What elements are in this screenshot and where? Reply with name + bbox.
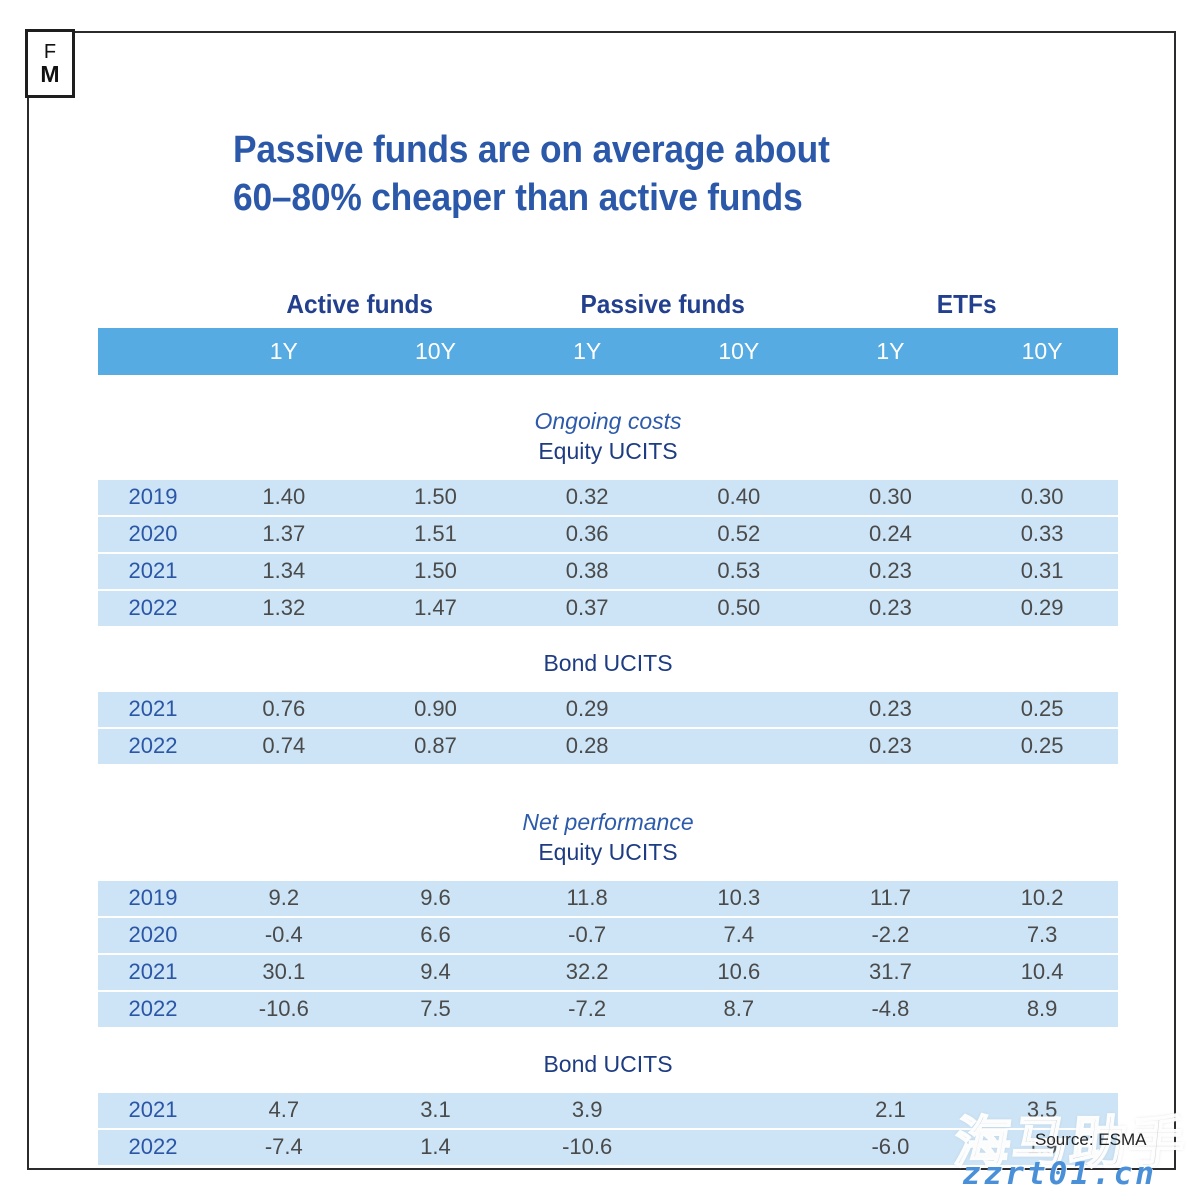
table-row: 2020-0.46.6-0.77.4-2.27.3 <box>98 918 1118 955</box>
logo-letter-m: M <box>40 63 59 86</box>
cell-value: -6.0 <box>815 1130 967 1163</box>
fm-logo: F M <box>25 29 75 98</box>
cell-value: -10.6 <box>208 992 360 1025</box>
table-row: 20210.760.900.290.230.25 <box>98 692 1118 729</box>
cell-value <box>663 1093 815 1126</box>
cell-value <box>663 692 815 725</box>
sub-header-passive-1y: 1Y <box>511 328 663 375</box>
cell-year: 2021 <box>98 554 208 587</box>
cell-year: 2021 <box>98 955 208 988</box>
section-caption: Ongoing costsEquity UCITS <box>98 407 1118 466</box>
table-row: 20221.321.470.370.500.230.29 <box>98 591 1118 626</box>
section-rows: 20199.29.611.810.311.710.22020-0.46.6-0.… <box>98 881 1118 1027</box>
caption-spacer <box>98 678 1118 692</box>
table-group-header-row: Active funds Passive funds ETFs <box>98 281 1118 328</box>
title-line-1: Passive funds are on average about <box>233 126 1089 174</box>
cell-year: 2020 <box>98 517 208 550</box>
cell-value: 0.31 <box>966 554 1118 587</box>
section-caption: Bond UCITS <box>98 648 1118 678</box>
cell-value: 0.25 <box>966 692 1118 725</box>
section-spacer <box>98 626 1118 648</box>
sub-header-passive-10y: 10Y <box>663 328 815 375</box>
caption-spacer <box>98 867 1118 881</box>
cell-value: 1.34 <box>208 554 360 587</box>
cell-value: 1.4 <box>360 1130 512 1163</box>
cell-value: 31.7 <box>815 955 967 988</box>
cell-value: -0.4 <box>208 918 360 951</box>
cell-value: 32.2 <box>511 955 663 988</box>
cell-value: 0.30 <box>966 480 1118 513</box>
cell-value: 8.7 <box>663 992 815 1025</box>
cell-year: 2019 <box>98 480 208 513</box>
table-row: 202130.19.432.210.631.710.4 <box>98 955 1118 992</box>
cell-value: 11.8 <box>511 881 663 914</box>
cell-value: 10.3 <box>663 881 815 914</box>
table-sections: Ongoing costsEquity UCITS20191.401.500.3… <box>98 375 1118 1165</box>
cell-value: -10.6 <box>511 1130 663 1163</box>
cell-value: 0.29 <box>511 692 663 725</box>
cell-value: -2.2 <box>815 918 967 951</box>
cell-value: 0.23 <box>815 729 967 762</box>
logo-letter-f: F <box>44 42 56 62</box>
cell-value: 0.23 <box>815 554 967 587</box>
cell-value: 0.52 <box>663 517 815 550</box>
group-header-etfs: ETFs <box>824 281 1109 328</box>
cell-value: 0.30 <box>815 480 967 513</box>
group-header-passive-funds: Passive funds <box>520 281 805 328</box>
cell-value: 1.40 <box>208 480 360 513</box>
content-area: Passive funds are on average about 60–80… <box>0 0 1200 1200</box>
cell-year: 2021 <box>98 692 208 725</box>
cell-year: 2022 <box>98 591 208 624</box>
cell-value: 0.36 <box>511 517 663 550</box>
cell-value: 0.37 <box>511 591 663 624</box>
sub-header-etf-1y: 1Y <box>815 328 967 375</box>
page-title: Passive funds are on average about 60–80… <box>233 126 1089 222</box>
cell-value: 6.6 <box>360 918 512 951</box>
table-row: 20220.740.870.280.230.25 <box>98 729 1118 764</box>
cell-value: 1.32 <box>208 591 360 624</box>
cell-value: 0.23 <box>815 692 967 725</box>
table-row: 20191.401.500.320.400.300.30 <box>98 480 1118 517</box>
cell-value: 0.87 <box>360 729 512 762</box>
cell-year: 2022 <box>98 729 208 762</box>
cell-value: 7.5 <box>360 992 512 1025</box>
cell-value: 10.4 <box>966 955 1118 988</box>
cell-value: 0.74 <box>208 729 360 762</box>
cell-value: 0.50 <box>663 591 815 624</box>
title-line-2: 60–80% cheaper than active funds <box>233 174 1089 222</box>
cell-value: 0.28 <box>511 729 663 762</box>
cell-value: 1.51 <box>360 517 512 550</box>
section-spacer <box>98 375 1118 407</box>
section-rows: 20210.760.900.290.230.2520220.740.870.28… <box>98 692 1118 764</box>
cell-value: 0.25 <box>966 729 1118 762</box>
cell-year: 2022 <box>98 1130 208 1163</box>
cell-year: 2020 <box>98 918 208 951</box>
sub-header-year-col <box>98 328 208 375</box>
cell-value: 30.1 <box>208 955 360 988</box>
cell-value: 10.2 <box>966 881 1118 914</box>
section-caption-asset: Bond UCITS <box>98 648 1118 678</box>
cell-value: 1.50 <box>360 480 512 513</box>
section-caption-metric: Ongoing costs <box>98 407 1118 436</box>
cell-value: 3.9 <box>511 1093 663 1126</box>
cell-value: 0.40 <box>663 480 815 513</box>
section-caption-asset: Equity UCITS <box>98 837 1118 867</box>
sub-header-active-10y: 10Y <box>360 328 512 375</box>
cell-value: 0.76 <box>208 692 360 725</box>
cell-value: 0.23 <box>815 591 967 624</box>
cell-value: -4.8 <box>815 992 967 1025</box>
cell-value: 0.53 <box>663 554 815 587</box>
source-note: Source: ESMA <box>1035 1130 1147 1150</box>
section-caption: Net performanceEquity UCITS <box>98 808 1118 867</box>
cell-value: 0.29 <box>966 591 1118 624</box>
cell-year: 2021 <box>98 1093 208 1126</box>
sub-header-etf-10y: 10Y <box>966 328 1118 375</box>
section-caption-metric: Net performance <box>98 808 1118 837</box>
section-caption-asset: Equity UCITS <box>98 436 1118 466</box>
cell-value: 3.1 <box>360 1093 512 1126</box>
cell-value: 4.7 <box>208 1093 360 1126</box>
section-caption: Bond UCITS <box>98 1049 1118 1079</box>
cell-value: 11.7 <box>815 881 967 914</box>
caption-spacer <box>98 466 1118 480</box>
cell-value: 0.32 <box>511 480 663 513</box>
group-header-active-funds: Active funds <box>217 281 502 328</box>
cell-value: 7.3 <box>966 918 1118 951</box>
section-rows: 20191.401.500.320.400.300.3020201.371.51… <box>98 480 1118 626</box>
cell-value: 7.4 <box>663 918 815 951</box>
group-header-spacer <box>101 281 204 328</box>
cell-value: -7.4 <box>208 1130 360 1163</box>
cell-value: 0.24 <box>815 517 967 550</box>
watermark-site: zzrt01.cn <box>962 1156 1157 1192</box>
table-row: 2022-10.67.5-7.28.7-4.88.9 <box>98 992 1118 1027</box>
cell-year: 2022 <box>98 992 208 1025</box>
section-caption-asset: Bond UCITS <box>98 1049 1118 1079</box>
cell-value: 1.37 <box>208 517 360 550</box>
cell-value: 8.9 <box>966 992 1118 1025</box>
sub-header-active-1y: 1Y <box>208 328 360 375</box>
cell-value: -0.7 <box>511 918 663 951</box>
cell-value <box>663 729 815 762</box>
cell-value: 2.1 <box>815 1093 967 1126</box>
cell-value: 0.33 <box>966 517 1118 550</box>
cell-value: 1.50 <box>360 554 512 587</box>
cell-value: 0.90 <box>360 692 512 725</box>
cell-value <box>663 1130 815 1163</box>
cell-value: 1.47 <box>360 591 512 624</box>
section-spacer <box>98 1027 1118 1049</box>
table-row: 20201.371.510.360.520.240.33 <box>98 517 1118 554</box>
data-table: Active funds Passive funds ETFs 1Y 10Y 1… <box>98 281 1118 1165</box>
caption-spacer <box>98 1079 1118 1093</box>
cell-value: -7.2 <box>511 992 663 1025</box>
cell-value: 9.4 <box>360 955 512 988</box>
cell-value: 0.38 <box>511 554 663 587</box>
cell-value: 9.2 <box>208 881 360 914</box>
cell-value: 9.6 <box>360 881 512 914</box>
table-row: 20199.29.611.810.311.710.2 <box>98 881 1118 918</box>
table-row: 20211.341.500.380.530.230.31 <box>98 554 1118 591</box>
table-sub-header-row: 1Y 10Y 1Y 10Y 1Y 10Y <box>98 328 1118 375</box>
cell-year: 2019 <box>98 881 208 914</box>
section-spacer <box>98 764 1118 808</box>
cell-value: 10.6 <box>663 955 815 988</box>
